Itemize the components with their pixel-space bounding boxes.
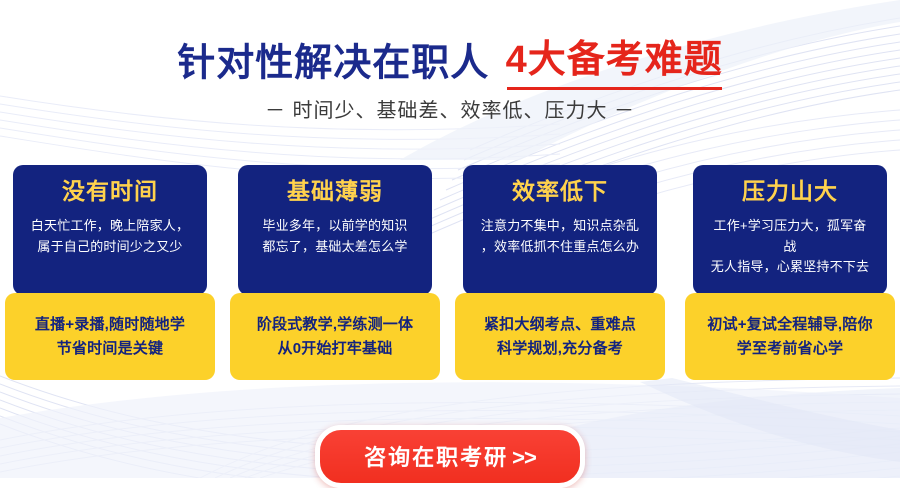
headline-accent-wrapper: 4大备考难题 <box>506 28 723 90</box>
card-description-line: 毕业多年，以前学的知识 <box>252 216 418 237</box>
card-problem-panel: 基础薄弱 毕业多年，以前学的知识 都忘了，基础太差怎么学 <box>238 165 432 295</box>
card-description-line: 注意力不集中，知识点杂乱 <box>477 216 643 237</box>
double-chevron-right-icon: >> <box>512 445 536 470</box>
card-description: 毕业多年，以前学的知识 都忘了，基础太差怎么学 <box>248 216 422 257</box>
card-problem-panel: 压力山大 工作+学习压力大，孤军奋战 无人指导，心累坚持不下去 <box>693 165 887 295</box>
problem-card-high-pressure: 压力山大 工作+学习压力大，孤军奋战 无人指导，心累坚持不下去 初试+复试全程辅… <box>685 165 895 380</box>
card-description-line: 无人指导，心累坚持不下去 <box>707 257 873 278</box>
page-subtitle: － 时间少、基础差、效率低、压力大 － <box>0 94 900 123</box>
card-solution-text: 直播+录播,随时随地学 节省时间是关键 <box>29 313 191 360</box>
card-description: 白天忙工作，晚上陪家人， 属于自己的时间少之又少 <box>23 216 197 257</box>
card-solution-line: 从0开始打牢基础 <box>257 337 413 361</box>
problem-card-no-time: 没有时间 白天忙工作，晚上陪家人， 属于自己的时间少之又少 直播+录播,随时随地… <box>5 165 215 380</box>
consult-button-label: 咨询在职考研 <box>364 445 508 470</box>
card-description-line: 白天忙工作，晚上陪家人， <box>27 216 193 237</box>
card-solution-line: 紧扣大纲考点、重难点 <box>484 313 636 337</box>
card-solution-text: 阶段式教学,学练测一体 从0开始打牢基础 <box>251 313 419 360</box>
problem-cards-row: 没有时间 白天忙工作，晚上陪家人， 属于自己的时间少之又少 直播+录播,随时随地… <box>5 165 895 380</box>
card-solution-line: 阶段式教学,学练测一体 <box>257 313 413 337</box>
card-description-line: 属于自己的时间少之又少 <box>27 237 193 258</box>
card-description-line: ，效率低抓不住重点怎么办 <box>477 237 643 258</box>
cta-container: 咨询在职考研>> <box>0 425 900 488</box>
card-title: 没有时间 <box>23 179 197 204</box>
card-solution-line: 学至考前省心学 <box>707 337 872 361</box>
card-solution-line: 直播+录播,随时随地学 <box>35 313 185 337</box>
promo-banner: 针对性解决在职人 4大备考难题 － 时间少、基础差、效率低、压力大 － 没有时间… <box>0 0 900 478</box>
card-solution-panel: 阶段式教学,学练测一体 从0开始打牢基础 <box>230 293 440 380</box>
problem-card-low-efficiency: 效率低下 注意力不集中，知识点杂乱 ，效率低抓不住重点怎么办 紧扣大纲考点、重难… <box>455 165 665 380</box>
problem-card-weak-foundation: 基础薄弱 毕业多年，以前学的知识 都忘了，基础太差怎么学 阶段式教学,学练测一体… <box>230 165 440 380</box>
headline-underline <box>507 87 722 90</box>
card-solution-line: 科学规划,充分备考 <box>484 337 636 361</box>
page-title: 针对性解决在职人 4大备考难题 <box>0 28 900 90</box>
card-title: 压力山大 <box>703 179 877 204</box>
card-description-line: 工作+学习压力大，孤军奋战 <box>707 216 873 257</box>
card-solution-panel: 直播+录播,随时随地学 节省时间是关键 <box>5 293 215 380</box>
headline-main-text: 针对性解决在职人 <box>177 43 489 85</box>
card-description-line: 都忘了，基础太差怎么学 <box>252 237 418 258</box>
card-title: 基础薄弱 <box>248 179 422 204</box>
card-solution-text: 初试+复试全程辅导,陪你 学至考前省心学 <box>701 313 878 360</box>
card-title: 效率低下 <box>473 179 647 204</box>
card-solution-panel: 紧扣大纲考点、重难点 科学规划,充分备考 <box>455 293 665 380</box>
card-solution-panel: 初试+复试全程辅导,陪你 学至考前省心学 <box>685 293 895 380</box>
card-problem-panel: 没有时间 白天忙工作，晚上陪家人， 属于自己的时间少之又少 <box>13 165 207 295</box>
card-description: 工作+学习压力大，孤军奋战 无人指导，心累坚持不下去 <box>703 216 877 278</box>
card-solution-line: 初试+复试全程辅导,陪你 <box>707 313 872 337</box>
headline-accent-text: 4大备考难题 <box>506 28 723 83</box>
card-problem-panel: 效率低下 注意力不集中，知识点杂乱 ，效率低抓不住重点怎么办 <box>463 165 657 295</box>
card-solution-line: 节省时间是关键 <box>35 337 185 361</box>
consult-button[interactable]: 咨询在职考研>> <box>315 425 585 488</box>
card-description: 注意力不集中，知识点杂乱 ，效率低抓不住重点怎么办 <box>473 216 647 257</box>
card-solution-text: 紧扣大纲考点、重难点 科学规划,充分备考 <box>478 313 642 360</box>
